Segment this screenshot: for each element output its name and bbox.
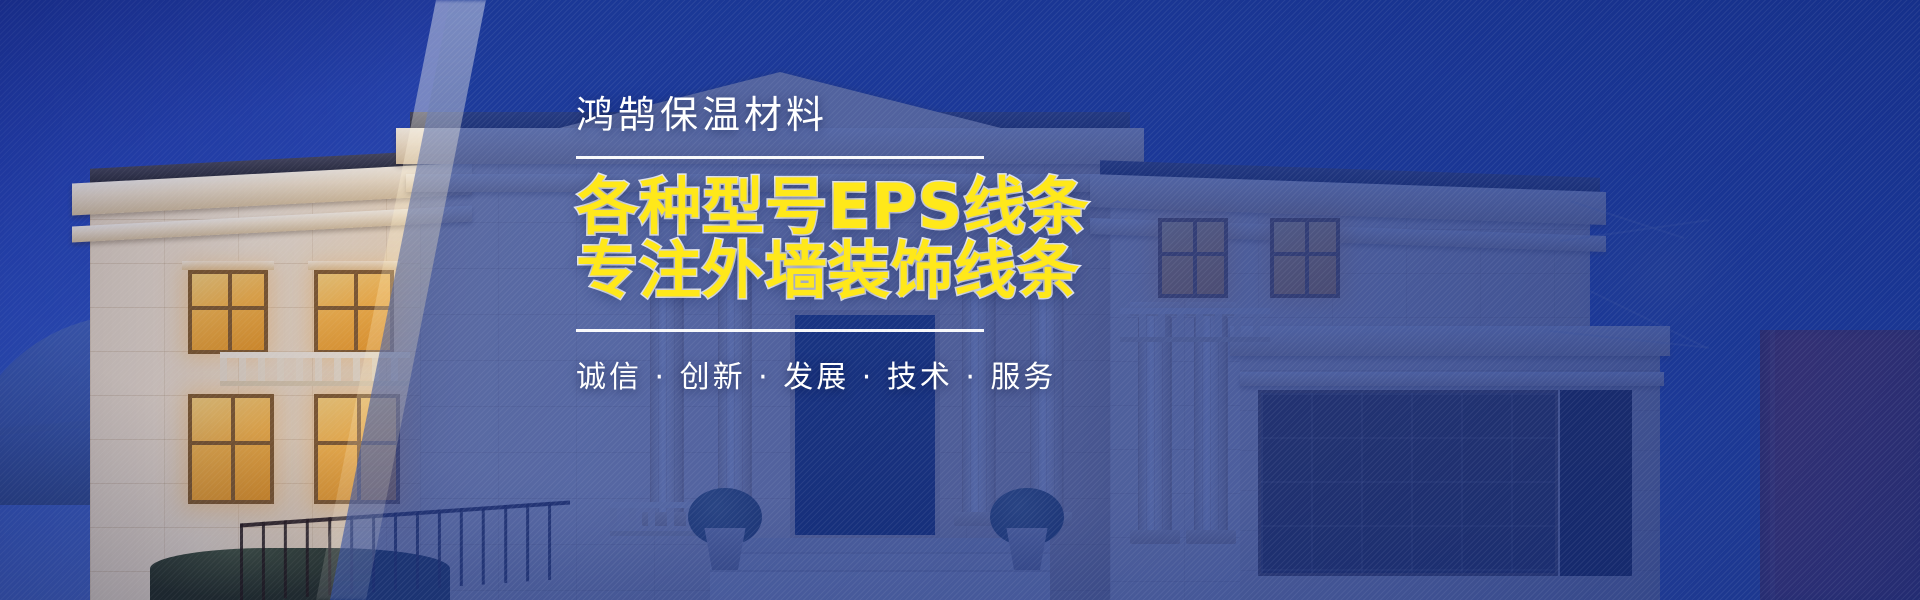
tagline: 诚信 · 创新 · 发展 · 技术 · 服务	[576, 352, 1556, 396]
headline-line-2: 专注外墙装饰线条	[576, 239, 1556, 303]
company-name: 鸿鹄保温材料	[576, 96, 1556, 134]
divider-bottom	[576, 329, 984, 332]
hero-banner: 鸿鹄保温材料 各种型号EPS线条 专注外墙装饰线条 诚信 · 创新 · 发展 ·…	[0, 0, 1920, 600]
headline-line-1: 各种型号EPS线条	[576, 175, 1556, 239]
headline: 各种型号EPS线条 专注外墙装饰线条	[576, 175, 1556, 303]
divider-top	[576, 156, 984, 159]
banner-text-block: 鸿鹄保温材料 各种型号EPS线条 专注外墙装饰线条 诚信 · 创新 · 发展 ·…	[576, 96, 1556, 396]
